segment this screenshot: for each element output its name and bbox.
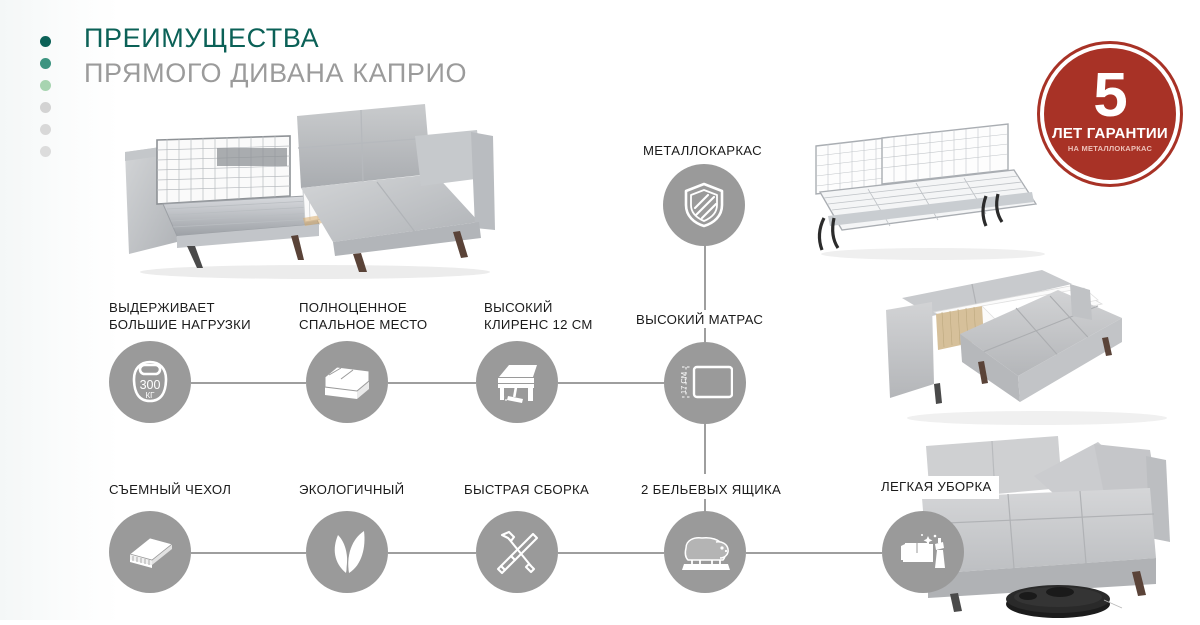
label-heavy-load: ВЫДЕРЖИВАЕТ БОЛЬШИЕ НАГРУЗКИ xyxy=(109,300,251,334)
eco-friendly-circle xyxy=(306,511,388,593)
connector-cover-to-eco xyxy=(191,552,306,554)
sofa-spray-icon xyxy=(897,530,949,574)
connector-boxes-to-cleaning xyxy=(746,552,882,554)
node-heavy-load[interactable]: 300 КГ xyxy=(109,341,191,423)
photo-sofa-bed-storage xyxy=(872,262,1192,432)
sofa-part xyxy=(901,543,933,562)
label-high-clearance: ВЫСОКИЙ КЛИРЕНС 12 СМ xyxy=(484,300,593,334)
badge-line2: НА МЕТАЛЛОКАРКАС xyxy=(1068,144,1152,153)
node-high-clearance[interactable] xyxy=(476,341,558,423)
high-mattress-circle: 17 СМ xyxy=(664,342,746,424)
node-eco-friendly[interactable] xyxy=(306,511,388,593)
cover-layers-icon xyxy=(124,532,176,572)
node-metal-frame[interactable] xyxy=(663,164,745,246)
label-eco-friendly: ЭКОЛОГИЧНЫЙ xyxy=(299,482,404,499)
connector-bed-to-clearance xyxy=(388,382,476,384)
node-two-linen-boxes[interactable] xyxy=(664,511,746,593)
kettlebell-weight-value: 300 xyxy=(140,378,161,392)
infographic-canvas: ПРЕИМУЩЕСТВА ПРЯМОГО ДИВАНА КАПРИО 5 ЛЕТ… xyxy=(0,0,1200,620)
dot-2 xyxy=(40,58,51,69)
full-sleeping-place-circle xyxy=(306,341,388,423)
label-two-linen-boxes: 2 БЕЛЬЕВЫХ ЯЩИКА xyxy=(641,482,781,499)
connector-mattress-to-boxes xyxy=(704,424,706,474)
badge-line1: ЛЕТ ГАРАНТИИ xyxy=(1052,125,1168,142)
connector-assembly-to-boxes xyxy=(558,552,664,554)
shield-icon xyxy=(681,181,727,229)
kettlebell-icon: 300 КГ xyxy=(128,357,172,407)
label-fast-assembly: БЫСТРАЯ СБОРКА xyxy=(464,482,589,499)
connector-label-to-mattress xyxy=(704,328,706,342)
dot-6 xyxy=(40,146,51,157)
label-full-sleeping-place: ПОЛНОЦЕННОЕ СПАЛЬНОЕ МЕСТО xyxy=(299,300,427,334)
dot-3 xyxy=(40,80,51,91)
connector-eco-to-assembly xyxy=(388,552,476,554)
high-clearance-circle xyxy=(476,341,558,423)
label-metal-frame: МЕТАЛЛОКАРКАС xyxy=(643,143,762,160)
node-removable-cover[interactable] xyxy=(109,511,191,593)
connector-frame-to-mattress xyxy=(704,235,706,310)
metal-frame-circle xyxy=(663,164,745,246)
label-easy-cleaning: ЛЕГКАЯ УБОРКА xyxy=(874,476,999,499)
two-linen-boxes-circle xyxy=(664,511,746,593)
label-high-mattress: ВЫСОКИЙ МАТРАС xyxy=(636,312,763,329)
hippo-icon xyxy=(678,530,732,574)
dot-4 xyxy=(40,102,51,113)
photo-metal-frame-closeup xyxy=(808,118,1058,268)
hammer-screwdriver-icon xyxy=(493,528,541,576)
title-secondary: ПРЯМОГО ДИВАНА КАПРИО xyxy=(84,58,467,90)
easy-cleaning-circle xyxy=(882,511,964,593)
background-wash xyxy=(0,0,120,620)
label-removable-cover: СЪЕМНЫЙ ЧЕХОЛ xyxy=(109,482,231,499)
heavy-load-circle: 300 КГ xyxy=(109,341,191,423)
fast-assembly-circle xyxy=(476,511,558,593)
dot-5 xyxy=(40,124,51,135)
removable-cover-circle xyxy=(109,511,191,593)
node-fast-assembly[interactable] xyxy=(476,511,558,593)
spray-bottle-part xyxy=(935,538,945,568)
photo-sofa-bed-unfolded-frame xyxy=(105,96,505,281)
bed-icon xyxy=(321,361,373,403)
node-full-sleeping-place[interactable] xyxy=(306,341,388,423)
guarantee-badge: 5 ЛЕТ ГАРАНТИИ НА МЕТАЛЛОКАРКАС xyxy=(1044,48,1176,180)
sofa-broom-icon xyxy=(493,359,541,405)
leaf-icon xyxy=(326,527,368,577)
page-title: ПРЕИМУЩЕСТВА ПРЯМОГО ДИВАНА КАПРИО xyxy=(84,23,467,90)
kettlebell-weight-unit: КГ xyxy=(146,391,156,400)
connector-clearance-to-mattress xyxy=(558,382,664,384)
dot-1 xyxy=(40,36,51,47)
badge-number: 5 xyxy=(1093,71,1126,122)
title-primary: ПРЕИМУЩЕСТВА xyxy=(84,23,467,55)
node-high-mattress[interactable]: 17 СМ xyxy=(664,342,746,424)
connector-load-to-bed xyxy=(191,382,306,384)
mattress-height-icon: 17 СМ xyxy=(677,360,733,406)
node-easy-cleaning[interactable] xyxy=(882,511,964,593)
decorative-dots xyxy=(40,36,54,168)
mattress-height-value: 17 СМ xyxy=(679,372,688,394)
